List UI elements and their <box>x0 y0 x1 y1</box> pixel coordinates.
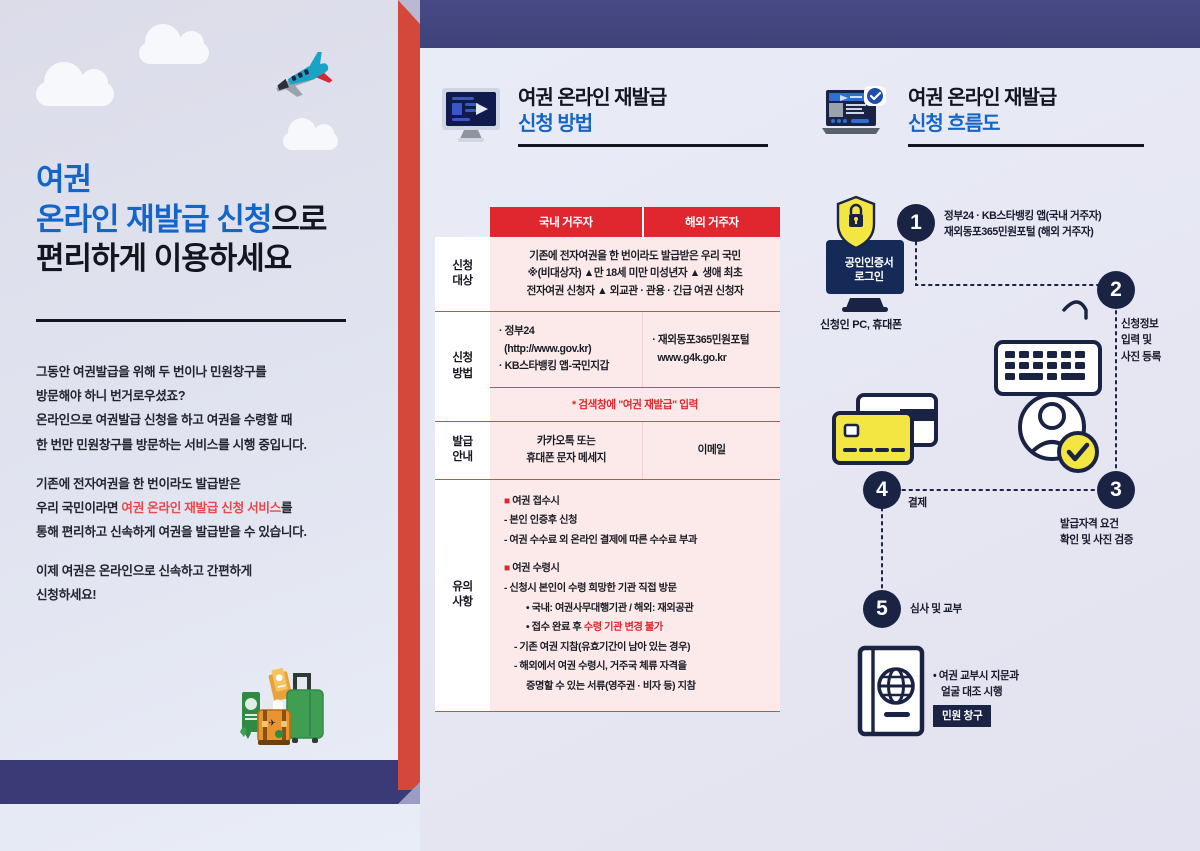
warn-b2-item2: - 기존 여권 지참(유효기간이 남아 있는 경우) <box>504 638 770 658</box>
p3-line1: 이제 여권은 온라인으로 신속하고 간편하게 <box>36 564 252 578</box>
column-header-overseas: 해외 거주자 <box>643 207 780 237</box>
paragraph-1: 그동안 여권발급을 위해 두 번이나 민원창구를 방문해야 하니 번거로우셨죠?… <box>36 360 384 457</box>
step-1-caption: 신청인 PC, 휴대폰 <box>820 316 902 332</box>
right-title: 여권 온라인 재발급 신청 흐름도 <box>908 86 1144 147</box>
row-label-warning: 유의사항 <box>435 479 490 711</box>
warn-b1-item2: - 여권 수수료 외 온라인 결제에 따른 수수료 부과 <box>504 535 697 546</box>
middle-title: 여권 온라인 재발급 신청 방법 <box>518 86 768 147</box>
title-underline <box>908 144 1144 147</box>
left-panel: 여권 온라인 재발급 신청으로 편리하게 이용하세요 그동안 여권발급을 위해 … <box>0 0 420 851</box>
target-line2: ※(비대상자) ▲만 18세 미만 미성년자 ▲ 생애 최초 <box>528 267 743 279</box>
p2-line2-post: 를 <box>281 501 292 515</box>
cert-label-line2: 로그인 <box>854 271 883 283</box>
p1-line2: 방문해야 하니 번거로우셨죠? <box>36 389 185 403</box>
headline-suffix: 으로 <box>271 202 326 237</box>
method-dom-line2: (http://www.gov.kr) <box>499 343 591 355</box>
middle-title-line2: 신청 방법 <box>518 111 768 137</box>
middle-section-header: 여권 온라인 재발급 신청 방법 <box>440 86 768 147</box>
step2-line2: 입력 및 <box>1121 334 1152 346</box>
p2-line1: 기존에 전자여권을 한 번이라도 발급받은 <box>36 477 241 491</box>
warn-b2-item1: - 신청시 본인이 수령 희망한 기관 직접 방문 <box>504 583 677 594</box>
p1-line3: 온라인으로 여권발급 신청을 하고 여권을 수령할 때 <box>36 413 292 427</box>
p1-line1: 그동안 여권발급을 위해 두 번이나 민원창구를 <box>36 365 266 379</box>
top-banner <box>420 0 1200 48</box>
row-value-issue-overseas: 이메일 <box>643 421 780 479</box>
target-line1: 기존에 전자여권을 한 번이라도 발급받은 우리 국민 <box>529 250 741 262</box>
warn-b2-sub1: • 국내: 여권사무대행기관 / 해외: 재외공관 <box>504 599 770 619</box>
airplane-icon <box>268 52 334 102</box>
monitor-play-icon <box>440 86 502 144</box>
table-row: 유의사항 ■ 여권 접수시 - 본인 인증후 신청 - 여권 수수료 외 온라인… <box>435 479 780 711</box>
step-2-text: 신청정보 입력 및 사진 등록 <box>1121 316 1199 365</box>
step-badge-3: 3 <box>1097 471 1135 509</box>
keyboard-icon <box>996 302 1100 394</box>
step-1-icon-label: 공인인증서 로그인 <box>836 256 902 285</box>
note-line2: 얼굴 대조 시행 <box>933 686 1002 698</box>
p2-highlight: 여권 온라인 재발급 신청 서비스 <box>121 501 281 515</box>
warn-b2-item3-cont: 증명할 수 있는 서류(영주권 · 비자 등) 지참 <box>504 677 770 697</box>
left-body-copy: 그동안 여권발급을 위해 두 번이나 민원창구를 방문해야 하니 번거로우셨죠?… <box>36 360 384 608</box>
warn-block2-title: ■ 여권 수령시 <box>504 563 560 574</box>
method-dom-line3: · KB스타뱅킹 앱-국민지갑 <box>499 360 609 372</box>
cert-label-line1: 공인인증서 <box>845 257 894 269</box>
bottom-navy-band <box>0 760 420 804</box>
step-badge-2: 2 <box>1097 271 1135 309</box>
infographic-poster: 여권 온라인 재발급 신청으로 편리하게 이용하세요 그동안 여권발급을 위해 … <box>0 0 1200 851</box>
method-dom-line1: · 정부24 <box>499 325 534 337</box>
step3-line1: 발급자격 요건 <box>1060 518 1119 530</box>
method-ovs-line1: · 재외동포365민원포털 <box>652 334 749 346</box>
page-title: 여권 온라인 재발급 신청으로 편리하게 이용하세요 <box>36 160 384 279</box>
target-line3: 전자여권 신청자 ▲ 외교관 · 관용 · 긴급 여권 신청자 <box>527 285 744 297</box>
application-flowchart: 1 정부24 · KB스타뱅킹 앱(국내 거주자) 재외동포365민원포털 (해… <box>820 190 1200 760</box>
headline-line-1: 여권 <box>36 160 384 200</box>
step2-line3: 사진 등록 <box>1121 351 1161 363</box>
row-label-issue: 발급안내 <box>435 421 490 479</box>
table: 국내 거주자 해외 거주자 신청대상 기존에 전자여권을 한 번이라도 발급받은… <box>435 207 780 712</box>
method-ovs-line2: www.g4k.go.kr <box>652 352 726 364</box>
right-title-line2: 신청 흐름도 <box>908 111 1144 137</box>
step3-line2: 확인 및 사진 검증 <box>1060 534 1133 546</box>
paragraph-3: 이제 여권은 온라인으로 신속하고 간편하게 신청하세요! <box>36 559 384 607</box>
step1-line1: 정부24 · KB스타뱅킹 앱(국내 거주자) <box>944 210 1101 222</box>
issue-dom-line1: 카카오톡 또는 <box>537 435 596 447</box>
luggage-icon: ✈ <box>232 660 336 752</box>
title-underline <box>518 144 768 147</box>
right-title-line1: 여권 온라인 재발급 <box>908 86 1144 111</box>
headline-line-3: 편리하게 이용하세요 <box>36 239 384 279</box>
step1-line2: 재외동포365민원포털 (해외 거주자) <box>944 226 1093 238</box>
table-row: 신청방법 · 정부24 (http://www.gov.kr) · KB스타뱅킹… <box>435 312 780 387</box>
column-header-domestic: 국내 거주자 <box>490 207 643 237</box>
step-4-text: 결제 <box>908 495 927 511</box>
passport-icon <box>860 648 922 734</box>
p2-line3: 통해 편리하고 신속하게 여권을 발급받을 수 있습니다. <box>36 525 307 539</box>
step-1-text: 정부24 · KB스타뱅킹 앱(국내 거주자) 재외동포365민원포털 (해외 … <box>944 208 1194 241</box>
cloud-icon <box>36 82 114 106</box>
p2-line2-pre: 우리 국민이라면 <box>36 501 121 515</box>
headline-line-2: 온라인 재발급 신청으로 <box>36 200 384 240</box>
shield-lock-monitor-icon <box>826 197 904 312</box>
row-value-target: 기존에 전자여권을 한 번이라도 발급받은 우리 국민 ※(비대상자) ▲만 1… <box>490 237 780 312</box>
cloud-icon <box>139 42 209 64</box>
p3-line2: 신청하세요! <box>36 588 96 602</box>
step-badge-4: 4 <box>863 471 901 509</box>
laptop-check-icon <box>820 86 892 144</box>
civil-service-window-chip: 민원 창구 <box>933 705 991 727</box>
credit-card-icon <box>834 395 936 463</box>
table-row: 발급안내 카카오톡 또는 휴대폰 문자 메세지 이메일 <box>435 421 780 479</box>
p1-line4: 한 번만 민원창구를 방문하는 서비스를 시행 중입니다. <box>36 438 307 452</box>
bullet-square-icon: ■ <box>504 496 510 507</box>
note-line1: • 여권 교부시 지문과 <box>933 670 1019 682</box>
warn-b1-item1: - 본인 인증후 신청 <box>504 515 577 526</box>
application-method-table: 국내 거주자 해외 거주자 신청대상 기존에 전자여권을 한 번이라도 발급받은… <box>435 207 780 712</box>
table-row: 신청대상 기존에 전자여권을 한 번이라도 발급받은 우리 국민 ※(비대상자)… <box>435 237 780 312</box>
warn-b2-sub2: • 접수 완료 후 수령 기관 변경 불가 <box>504 618 770 638</box>
right-section-header: 여권 온라인 재발급 신청 흐름도 <box>820 86 1144 147</box>
bullet-square-icon: ■ <box>504 563 510 574</box>
step-badge-1: 1 <box>897 204 935 242</box>
row-value-issue-domestic: 카카오톡 또는 휴대폰 문자 메세지 <box>490 421 643 479</box>
divider <box>36 319 346 322</box>
user-verified-icon <box>1020 395 1097 471</box>
spacer <box>504 550 770 559</box>
issue-dom-line2: 휴대폰 문자 메세지 <box>526 452 606 464</box>
paragraph-2: 기존에 전자여권을 한 번이라도 발급받은 우리 국민이라면 여권 온라인 재발… <box>36 472 384 545</box>
row-label-method: 신청방법 <box>435 312 490 421</box>
red-accent-bar <box>398 0 420 790</box>
row-value-warning: ■ 여권 접수시 - 본인 인증후 신청 - 여권 수수료 외 온라인 결제에 … <box>490 479 780 711</box>
step-3-text: 발급자격 요건 확인 및 사진 검증 <box>1060 516 1200 549</box>
table-header-row: 국내 거주자 해외 거주자 <box>435 207 780 237</box>
headline-accent: 온라인 재발급 신청 <box>36 202 271 237</box>
svg-text:✈: ✈ <box>268 718 276 728</box>
step-badge-5: 5 <box>863 590 901 628</box>
warn-block1-title: ■ 여권 접수시 <box>504 496 560 507</box>
row-label-target: 신청대상 <box>435 237 490 312</box>
row-value-method-domestic: · 정부24 (http://www.gov.kr) · KB스타뱅킹 앱-국민… <box>490 312 643 387</box>
middle-title-line1: 여권 온라인 재발급 <box>518 86 768 111</box>
row-value-method-overseas: · 재외동포365민원포털 www.g4k.go.kr <box>643 312 780 387</box>
step2-line1: 신청정보 <box>1121 318 1158 330</box>
step-5-text: 심사 및 교부 <box>910 601 962 617</box>
warn-b2-item3: - 해외에서 여권 수령시, 거주국 체류 자격을 <box>504 657 770 677</box>
cloud-icon <box>283 132 338 150</box>
header-blank-cell <box>435 207 490 237</box>
search-note: * 검색창에 "여권 재발급" 입력 <box>490 387 780 421</box>
left-text-block: 여권 온라인 재발급 신청으로 편리하게 이용하세요 그동안 여권발급을 위해 … <box>36 160 384 608</box>
step-5-note: • 여권 교부시 지문과 얼굴 대조 시행 민원 창구 <box>933 668 1103 727</box>
